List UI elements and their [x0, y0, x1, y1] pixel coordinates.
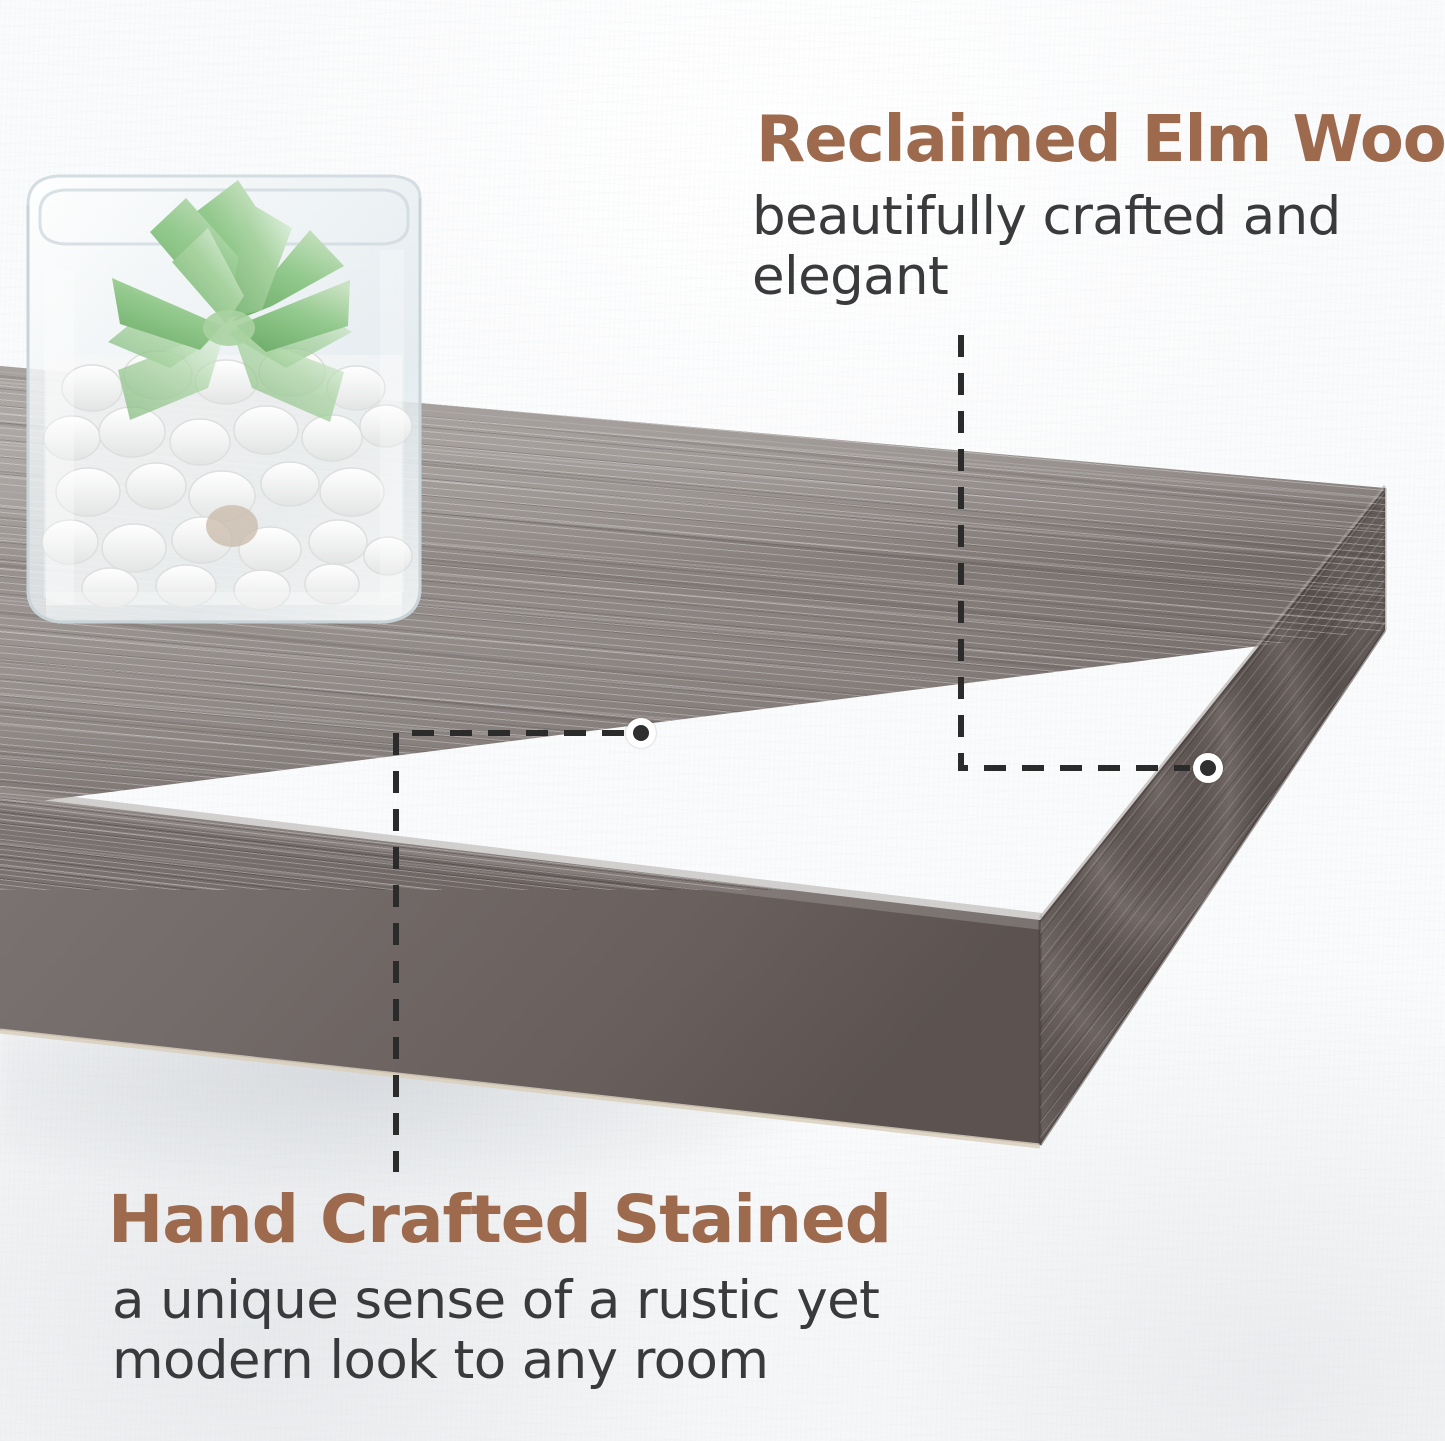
marker-dot	[633, 725, 649, 741]
tan-pebble	[206, 505, 258, 547]
white-pebbles	[42, 348, 412, 610]
callout-text-reclaimed-elm: Reclaimed Elm Wood beautifully crafted a…	[752, 108, 1445, 306]
callout-marker-hand-crafted[interactable]	[626, 718, 656, 748]
marker-dot	[1200, 760, 1216, 776]
callout-heading-reclaimed-elm: Reclaimed Elm Wood	[756, 108, 1445, 173]
callout-body-line: modern look to any room	[112, 1331, 891, 1390]
callout-body-reclaimed-elm: beautifully crafted and elegant	[752, 187, 1445, 306]
callout-body-line: elegant	[752, 247, 1445, 306]
callout-body-line: a unique sense of a rustic yet	[112, 1271, 891, 1330]
callout-text-hand-crafted: Hand Crafted Stained a unique sense of a…	[108, 1186, 891, 1390]
shelf-front-edge	[0, 795, 1040, 1145]
callout-marker-reclaimed-elm[interactable]	[1193, 753, 1223, 783]
succulent-decor	[0, 120, 500, 640]
callout-body-hand-crafted: a unique sense of a rustic yet modern lo…	[112, 1271, 891, 1390]
callout-body-line: beautifully crafted and	[752, 187, 1445, 246]
callout-heading-hand-crafted: Hand Crafted Stained	[108, 1186, 891, 1253]
product-infographic: Reclaimed Elm Wood beautifully crafted a…	[0, 0, 1445, 1441]
